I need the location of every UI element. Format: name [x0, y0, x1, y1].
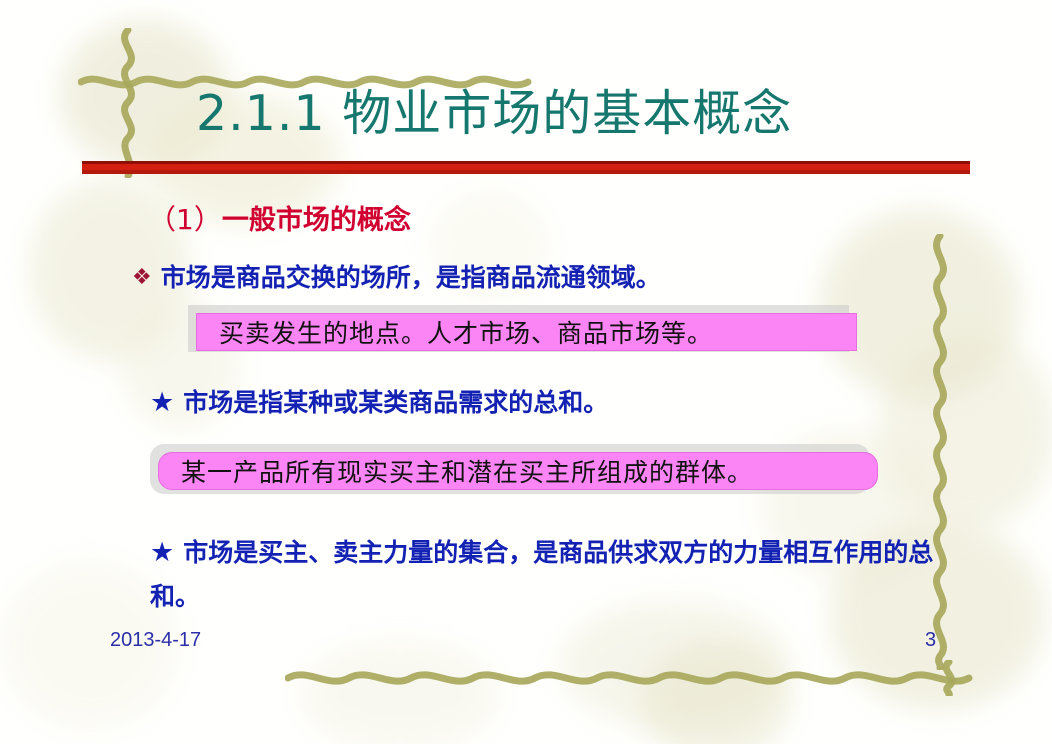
callout-box-1: 买卖发生的地点。人才市场、商品市场等。 [196, 313, 857, 360]
vine-decoration-top-left-vertical [106, 28, 152, 178]
callout-box-1-text: 买卖发生的地点。人才市场、商品市场等。 [219, 314, 713, 350]
bullet-line-2: ★市场是指某种或某类商品需求的总和。 [150, 385, 608, 421]
callout-box-2: 某一产品所有现实买主和潜在买主所组成的群体。 [158, 452, 878, 502]
callout-box-1-body: 买卖发生的地点。人才市场、商品市场等。 [196, 313, 857, 351]
bullet-line-3-text: 市场是买主、卖主力量的集合，是商品供求双方的力量相互作用的总和。 [150, 538, 933, 611]
diamond-bullet-icon: ❖ [132, 265, 152, 290]
callout-box-2-body: 某一产品所有现实买主和潜在买主所组成的群体。 [158, 452, 878, 490]
star-bullet-icon: ★ [150, 387, 174, 418]
section-heading: （1）一般市场的概念 [148, 203, 411, 238]
bullet-line-1-text: 市场是商品交换的场所，是指商品流通领域。 [161, 263, 661, 292]
footer-date: 2013-4-17 [110, 629, 201, 652]
callout-box-2-text: 某一产品所有现实买主和潜在买主所组成的群体。 [181, 453, 753, 489]
section-heading-text: 一般市场的概念 [222, 205, 411, 236]
bullet-line-3: ★市场是买主、卖主力量的集合，是商品供求双方的力量相互作用的总和。 [150, 531, 940, 619]
footer-page-number: 3 [925, 629, 936, 652]
vine-decoration-bottom [285, 660, 985, 696]
bullet-line-2-text: 市场是指某种或某类商品需求的总和。 [183, 388, 608, 417]
page-title: 2.1.1 物业市场的基本概念 [196, 86, 792, 142]
section-heading-number: （1） [148, 203, 222, 236]
title-divider-rule [82, 161, 970, 174]
star-bullet-icon: ★ [150, 537, 174, 568]
bullet-line-1: ❖市场是商品交换的场所，是指商品流通领域。 [132, 260, 661, 296]
slide-canvas: 2.1.1 物业市场的基本概念 （1）一般市场的概念 ❖市场是商品交换的场所，是… [0, 0, 1052, 744]
